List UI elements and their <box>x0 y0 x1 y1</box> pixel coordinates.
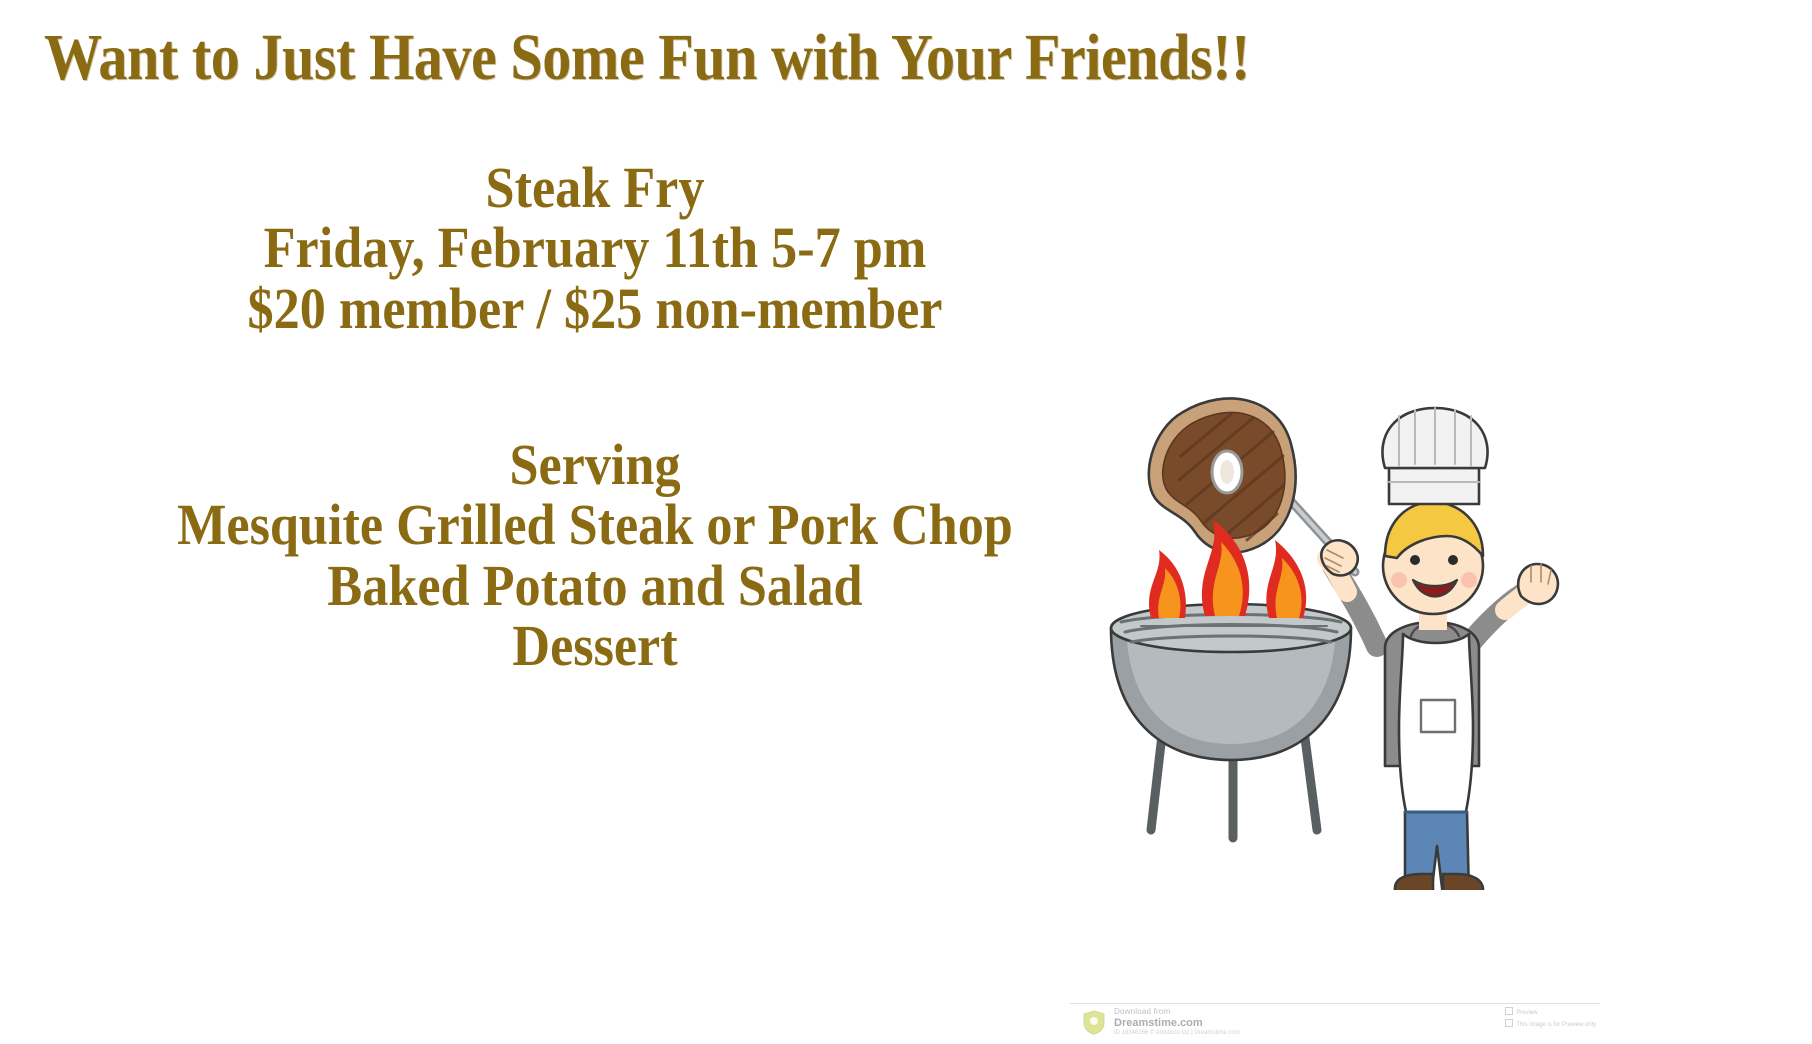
stock-photo-watermark: Download from Dreamstime.com ID 18348366… <box>1070 1003 1600 1039</box>
chef-figure <box>1321 408 1558 890</box>
grill-icon <box>1111 520 1351 838</box>
shield-icon <box>1083 1010 1105 1035</box>
menu-item-sides: Baked Potato and Salad <box>60 556 1131 616</box>
event-details-block: Steak Fry Friday, February 11th 5-7 pm $… <box>0 158 1190 339</box>
event-pricing: $20 member / $25 non-member <box>60 279 1131 339</box>
preview-chip-icon <box>1505 1019 1513 1027</box>
menu-item-entree: Mesquite Grilled Steak or Pork Chop <box>60 495 1131 555</box>
menu-heading: Serving <box>60 435 1131 495</box>
preview-chip-icon <box>1505 1007 1513 1015</box>
watermark-right-block: Preview This image is for Preview only <box>1505 1007 1596 1030</box>
watermark-divider <box>1070 1003 1600 1004</box>
watermark-right-row: Preview <box>1505 1007 1596 1019</box>
flyer-canvas: Want to Just Have Some Fun with Your Fri… <box>0 0 1812 1044</box>
watermark-brand: Dreamstime.com <box>1114 1017 1240 1029</box>
page-title: Want to Just Have Some Fun with Your Fri… <box>44 20 1250 96</box>
event-name: Steak Fry <box>60 158 1131 218</box>
event-datetime: Friday, February 11th 5-7 pm <box>60 218 1131 278</box>
watermark-credit: ID 18348366 © Artisticco Llc | Dreamstim… <box>1114 1030 1240 1036</box>
menu-block: Serving Mesquite Grilled Steak or Pork C… <box>0 435 1190 676</box>
menu-item-dessert: Dessert <box>60 616 1131 676</box>
watermark-text: Download from Dreamstime.com ID 18348366… <box>1114 1007 1240 1036</box>
chef-grill-illustration <box>1055 360 1575 890</box>
watermark-line-1: Download from <box>1114 1007 1240 1016</box>
watermark-right-row: This image is for Preview only <box>1505 1019 1596 1031</box>
